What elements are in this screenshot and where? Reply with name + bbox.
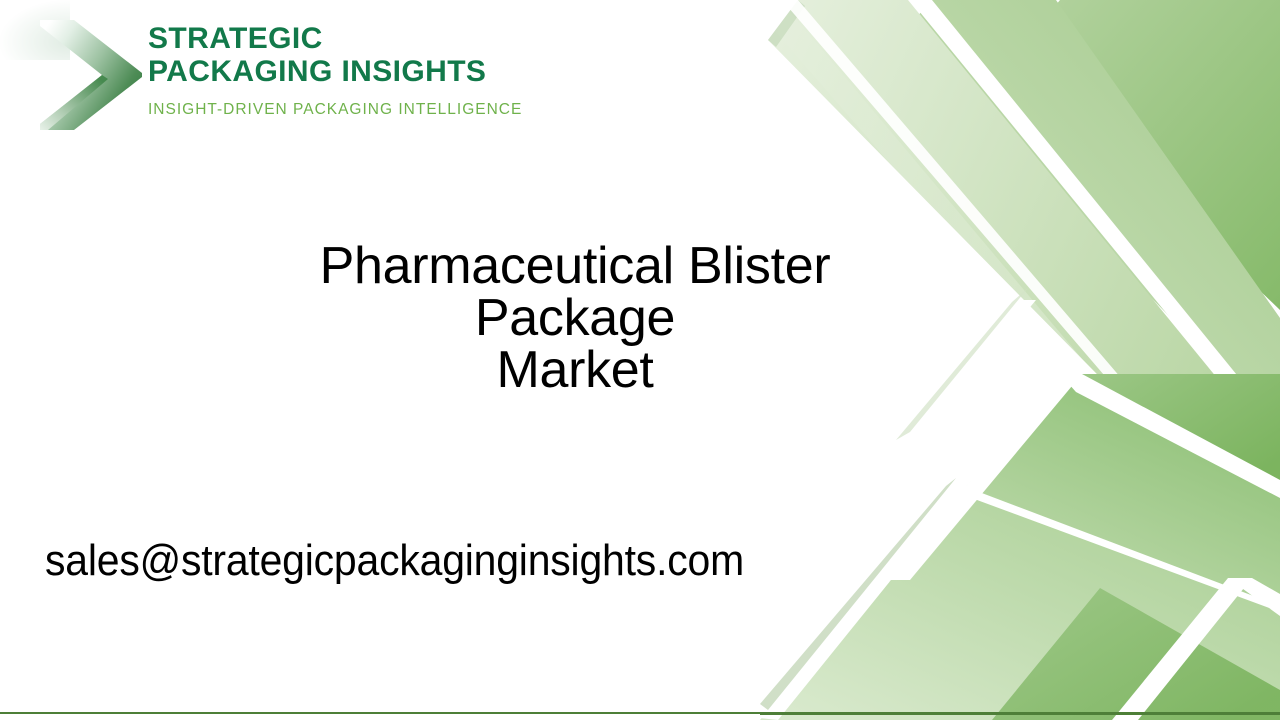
brand-wordmark: STRATEGIC PACKAGING INSIGHTS INSIGHT-DRI… <box>148 22 558 119</box>
slide-canvas: STRATEGIC PACKAGING INSIGHTS INSIGHT-DRI… <box>0 0 1280 720</box>
chevron-mark-icon <box>38 16 146 134</box>
bottom-rule <box>0 712 1280 714</box>
title-line-1: Pharmaceutical Blister <box>230 240 920 292</box>
title-line-2: Package <box>230 292 920 344</box>
brand-tagline: INSIGHT-DRIVEN PACKAGING INTELLIGENCE <box>148 101 558 119</box>
brand-line-2: PACKAGING INSIGHTS <box>148 55 558 88</box>
contact-email[interactable]: sales@strategicpackaginginsights.com <box>45 533 744 589</box>
brand-logo: STRATEGIC PACKAGING INSIGHTS INSIGHT-DRI… <box>38 14 558 134</box>
page-title: Pharmaceutical Blister Package Market <box>230 240 920 396</box>
brand-line-1: STRATEGIC <box>148 22 558 55</box>
title-line-3: Market <box>230 344 920 396</box>
